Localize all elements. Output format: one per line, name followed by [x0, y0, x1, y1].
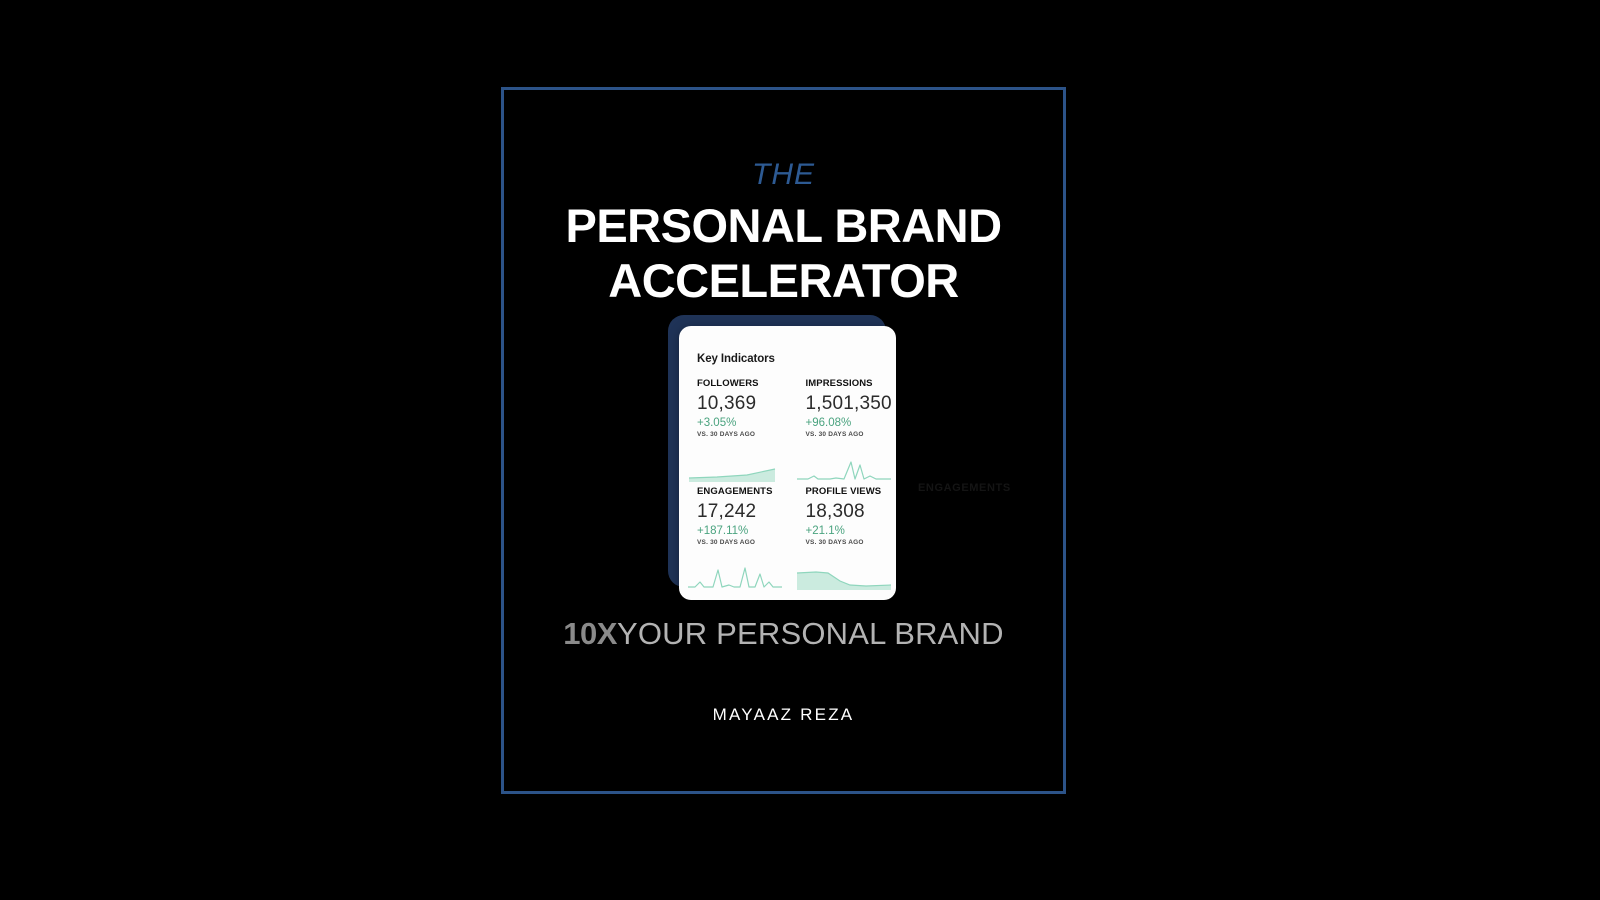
sparkline-impressions: [796, 456, 892, 482]
ghost-engagements-label: ENGAGEMENTS: [918, 482, 1011, 494]
metric-value: 17,242: [697, 500, 788, 524]
metric-period: VS. 30 DAYS AGO: [806, 538, 897, 548]
page-title: PERSONAL BRAND ACCELERATOR: [504, 198, 1063, 308]
sparkline-followers: [687, 456, 783, 482]
key-indicators-card: Key Indicators FOLLOWERS 10,369 +3.05% V…: [679, 326, 896, 600]
sparkline-engagements: [687, 564, 783, 590]
metric-delta: +187.11%: [697, 524, 788, 538]
metric-tile-followers[interactable]: FOLLOWERS 10,369 +3.05% VS. 30 DAYS AGO: [679, 378, 788, 486]
card-title: Key Indicators: [697, 353, 775, 365]
metric-tile-engagements[interactable]: ENGAGEMENTS 17,242 +187.11% VS. 30 DAYS …: [679, 486, 788, 594]
metric-label: ENGAGEMENTS: [697, 486, 788, 498]
title-line-2: ACCELERATOR: [504, 253, 1063, 308]
metric-label: IMPRESSIONS: [806, 378, 897, 390]
metric-label: FOLLOWERS: [697, 378, 788, 390]
dashboard-mockup: Key Indicators FOLLOWERS 10,369 +3.05% V…: [668, 315, 898, 600]
title-eyebrow: THE: [504, 160, 1063, 190]
metric-tile-profile-views[interactable]: PROFILE VIEWS 18,308 +21.1% VS. 30 DAYS …: [788, 486, 897, 594]
sparkline-profile-views: [796, 564, 892, 590]
metric-delta: +3.05%: [697, 416, 788, 430]
page-root: THE PERSONAL BRAND ACCELERATOR Key Indic…: [0, 0, 1600, 900]
metric-period: VS. 30 DAYS AGO: [697, 430, 788, 440]
book-cover: THE PERSONAL BRAND ACCELERATOR Key Indic…: [501, 87, 1066, 794]
metric-period: VS. 30 DAYS AGO: [806, 430, 897, 440]
metric-period: VS. 30 DAYS AGO: [697, 538, 788, 548]
metric-value: 10,369: [697, 392, 788, 416]
metric-value: 18,308: [806, 500, 897, 524]
tagline: 10XYOUR PERSONAL BRAND: [504, 618, 1063, 649]
metric-delta: +96.08%: [806, 416, 897, 430]
metrics-grid: FOLLOWERS 10,369 +3.05% VS. 30 DAYS AGO …: [679, 378, 896, 594]
metric-delta: +21.1%: [806, 524, 897, 538]
metric-tile-impressions[interactable]: IMPRESSIONS 1,501,350 +96.08% VS. 30 DAY…: [788, 378, 897, 486]
metrics-row-top: FOLLOWERS 10,369 +3.05% VS. 30 DAYS AGO …: [679, 378, 896, 486]
metric-value: 1,501,350: [806, 392, 897, 416]
metrics-row-bottom: ENGAGEMENTS 17,242 +187.11% VS. 30 DAYS …: [679, 486, 896, 594]
metric-label: PROFILE VIEWS: [806, 486, 897, 498]
author-name: MAYAAZ REZA: [504, 705, 1063, 725]
tagline-accent: 10X: [563, 616, 617, 651]
title-line-1: PERSONAL BRAND: [504, 198, 1063, 253]
tagline-rest: YOUR PERSONAL BRAND: [617, 616, 1004, 651]
